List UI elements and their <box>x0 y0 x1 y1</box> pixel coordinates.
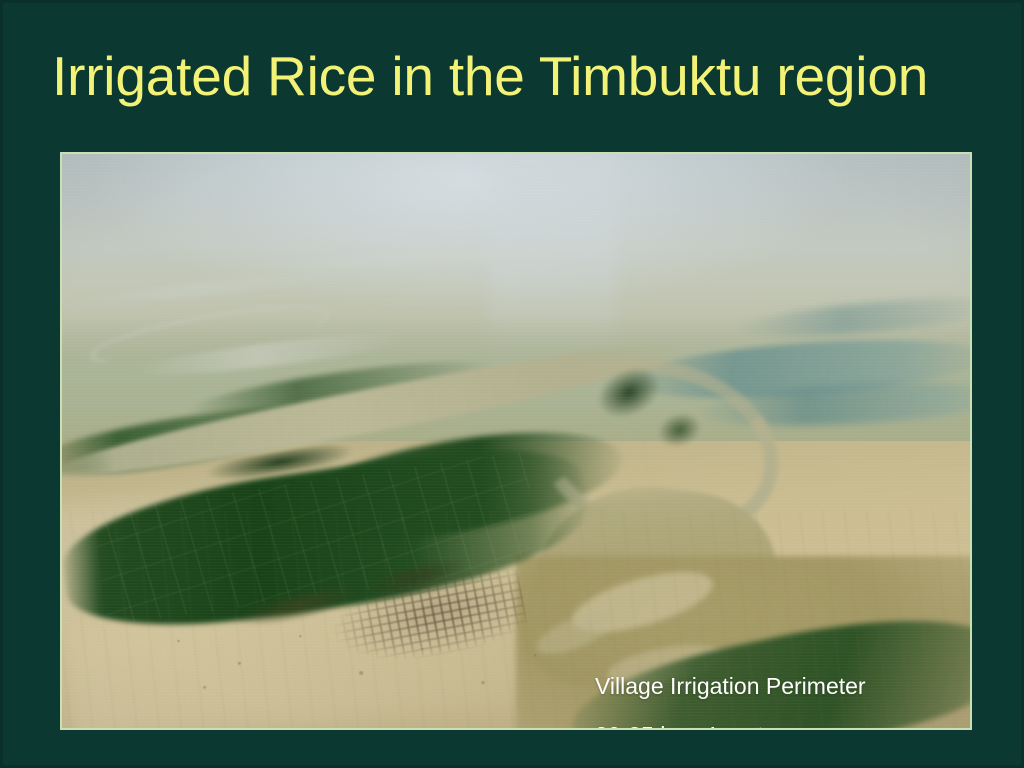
photo-caption: Village Irrigation Perimeter 30-35 ha - … <box>595 662 972 730</box>
photo-layer-channel-3 <box>134 327 407 383</box>
presentation-slide: Irrigated Rice in the Timbuktu region <box>0 0 1024 768</box>
page-title: Irrigated Rice in the Timbuktu region <box>52 44 982 110</box>
photo-layer-vignette <box>62 154 970 728</box>
photo-layer-treeline-c <box>638 396 721 462</box>
village-compound-grid <box>301 559 530 679</box>
caption-line-2: 30-35 ha - 1 motor pump <box>595 711 972 730</box>
photo-layer-treeline-b <box>563 338 697 446</box>
photo-layer-haze <box>489 154 616 384</box>
aerial-photo-image <box>62 154 970 728</box>
photo-layer-village-treeline <box>206 570 390 642</box>
photo-layer-treeline-a <box>180 437 380 488</box>
photo-layer-channel-1 <box>71 264 379 309</box>
photo-layer-sky <box>62 154 970 418</box>
photo-layer-sandbar-3 <box>532 605 619 662</box>
photo-layer-village-treeline-2 <box>342 544 490 607</box>
photo-layer-water-northeast-2 <box>697 376 970 432</box>
photo-layer-field-strip-2 <box>188 351 499 428</box>
photo-layer-water-northeast-1 <box>624 331 970 408</box>
photo-layer-water-north <box>733 291 970 343</box>
photo-layer-scattered-huts <box>135 625 571 705</box>
photo-layer-channel-2 <box>88 294 333 376</box>
photo-layer-channel-4 <box>244 242 625 273</box>
photo-layer-river-bend <box>516 334 797 565</box>
photo-layer-grain <box>62 154 970 728</box>
aerial-photo-frame: Village Irrigation Perimeter 30-35 ha - … <box>60 152 972 730</box>
photo-layer-field-strip-1 <box>62 394 336 488</box>
photo-layer-field-band <box>275 412 631 562</box>
photo-layer-sand-sweep-1 <box>62 437 648 628</box>
photo-layer-far-plain <box>62 315 970 487</box>
photo-layer-rice-fields <box>62 434 596 644</box>
photo-layer-sandbar-1 <box>567 560 719 644</box>
photo-layer-field-parcels <box>92 451 540 625</box>
photo-layer-river-upper <box>62 327 696 494</box>
caption-line-1: Village Irrigation Perimeter <box>595 662 972 711</box>
photo-layer-village <box>301 559 530 679</box>
